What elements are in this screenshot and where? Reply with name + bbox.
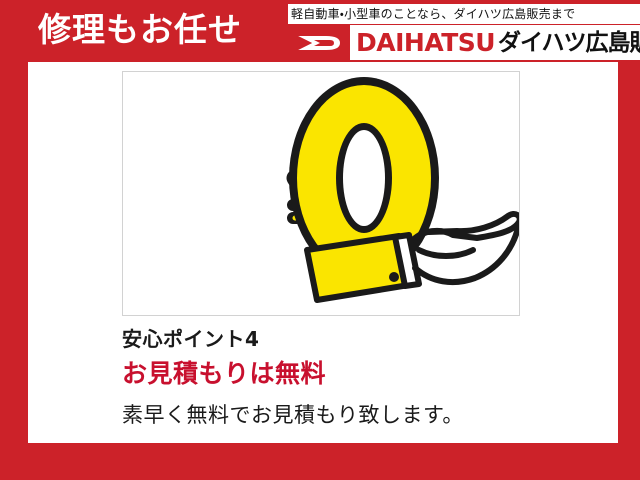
daihatsu-wordmark: DAIHATSU xyxy=(356,27,495,59)
point-label-text: 安心ポイント4 xyxy=(122,324,592,354)
tagline-strip: 軽自動車・小型車のことなら、ダイハツ広島販売まで xyxy=(288,4,640,24)
dealer-name-text: ダイハツ広島販売 xyxy=(498,28,640,58)
daihatsu-d-emblem-icon xyxy=(288,25,350,60)
caption-block: 安心ポイント4 お見積もりは無料 素早く無料でお見積もり致します。 xyxy=(122,324,592,432)
tagline-text: 軽自動車・小型車のことなら、ダイハツ広島販売まで xyxy=(291,5,575,23)
point-description-text: 素早く無料でお見積もり致します。 xyxy=(122,398,592,432)
headline-text: 修理もお任せ xyxy=(38,8,242,52)
point-title-text: お見積もりは無料 xyxy=(122,356,592,392)
yen-zero-hand-illustration xyxy=(123,72,519,315)
logo-strip: DAIHATSU ダイハツ広島販売 xyxy=(288,25,640,60)
banner-header: 修理もお任せ 軽自動車・小型車のことなら、ダイハツ広島販売まで DAIHATSU… xyxy=(0,0,640,62)
brand-block: 軽自動車・小型車のことなら、ダイハツ広島販売まで DAIHATSU ダイハツ広島… xyxy=(288,4,640,60)
content-card: 安心ポイント4 お見積もりは無料 素早く無料でお見積もり致します。 xyxy=(28,62,618,443)
advertisement-banner: 修理もお任せ 軽自動車・小型車のことなら、ダイハツ広島販売まで DAIHATSU… xyxy=(0,0,640,480)
illustration-frame xyxy=(122,71,520,316)
